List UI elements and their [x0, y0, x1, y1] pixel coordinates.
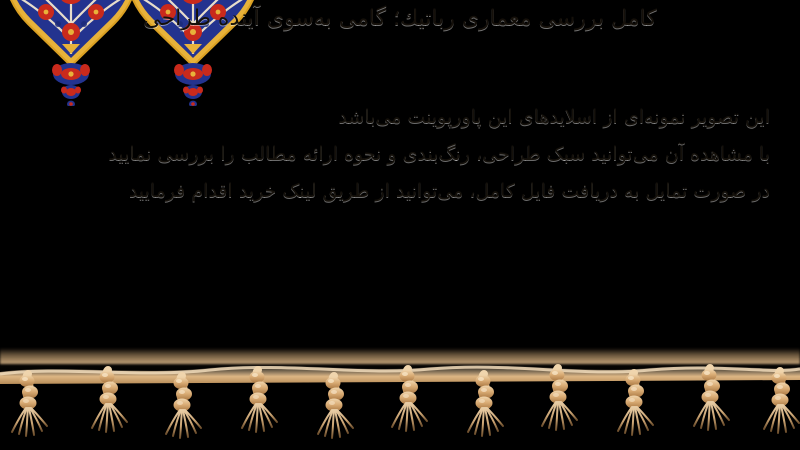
slide-body: این تصویر نمونه‌ای از اسلایدهای این پاور…	[40, 108, 770, 201]
body-line-1: این تصویر نمونه‌ای از اسلایدهای این پاور…	[40, 108, 770, 145]
carpet-knotted-fringe	[0, 358, 800, 450]
presentation-slide: کامل بررسی معماری رباتیك؛ گامی به‌سوی آی…	[0, 0, 800, 450]
slide-title: کامل بررسی معماری رباتیك؛ گامی به‌سوی آی…	[120, 4, 680, 33]
body-line-2: با مشاهده آن می‌توانید سبک طراحی، رنگ‌بن…	[40, 145, 770, 182]
body-line-3: در صورت تمایل به دریافت فایل کامل، می‌تو…	[40, 182, 770, 201]
slide-text-layer: کامل بررسی معماری رباتیك؛ گامی به‌سوی آی…	[0, 0, 800, 372]
